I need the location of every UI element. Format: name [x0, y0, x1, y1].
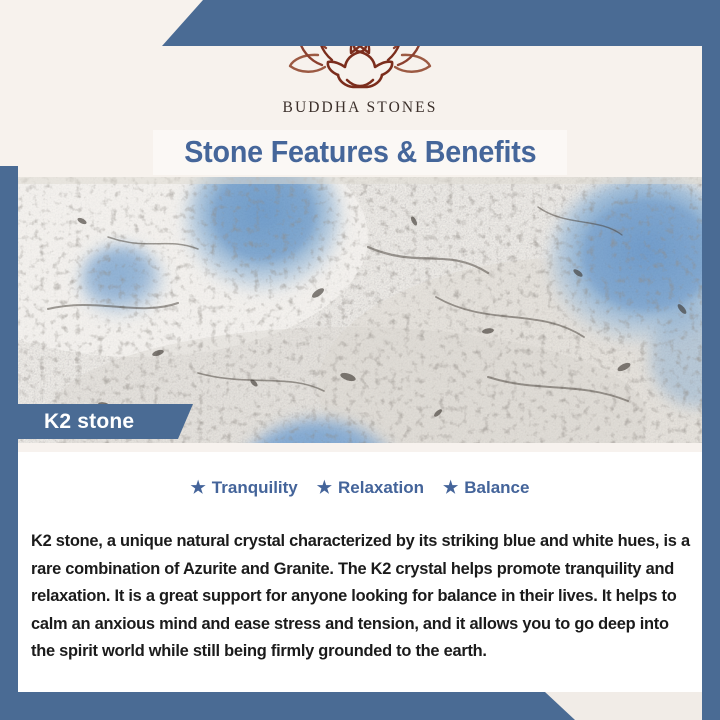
page-title: Stone Features & Benefits [184, 135, 536, 170]
infographic-card: BUDDHA STONES Stone Features & Benefits [0, 0, 720, 720]
keyword-label: Balance [464, 478, 529, 498]
star-icon: ★ [317, 479, 332, 496]
keyword-relaxation: ★ Relaxation [317, 478, 424, 498]
panel-top-divider [18, 443, 702, 452]
stone-name-tag: K2 stone [18, 404, 193, 439]
stone-description: K2 stone, a unique natural crystal chara… [31, 528, 695, 666]
keyword-balance: ★ Balance [443, 478, 529, 498]
star-icon: ★ [191, 479, 206, 496]
stone-name-label: K2 stone [18, 410, 134, 434]
content-panel: ★ Tranquility ★ Relaxation ★ Balance K2 … [18, 443, 702, 692]
brand-name: BUDDHA STONES [283, 99, 438, 117]
keyword-list: ★ Tranquility ★ Relaxation ★ Balance [18, 478, 702, 498]
keyword-label: Tranquility [212, 478, 298, 498]
star-icon: ★ [443, 479, 458, 496]
frame-accent-left [0, 166, 18, 720]
keyword-tranquility: ★ Tranquility [191, 478, 298, 498]
k2-stone-photo [18, 177, 702, 443]
keyword-label: Relaxation [338, 478, 424, 498]
frame-accent-right [702, 0, 720, 720]
title-plate: Stone Features & Benefits [153, 130, 567, 175]
